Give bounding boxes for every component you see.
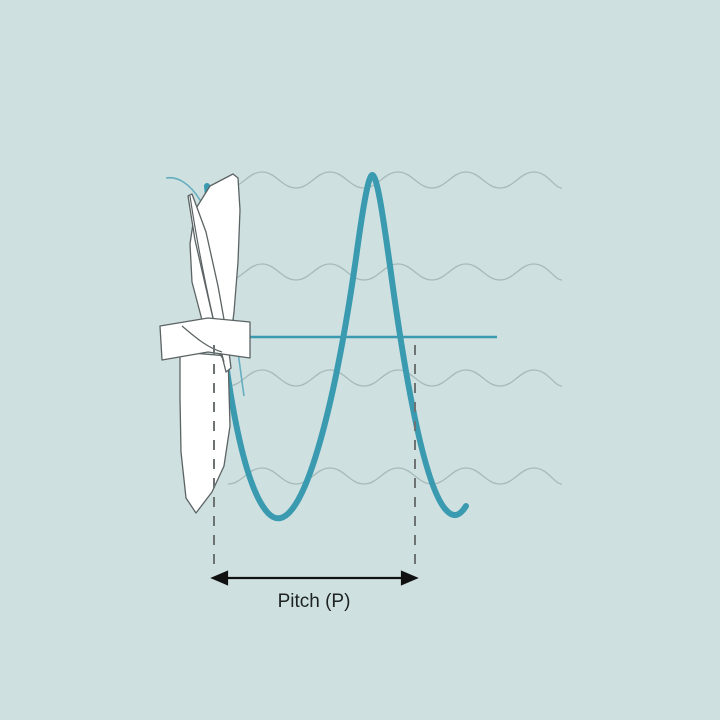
pitch-label: Pitch (P): [278, 591, 351, 612]
background-wave-row-2: [228, 264, 562, 280]
pitch-arrow-head-left: [213, 572, 227, 584]
propeller-lower-blade: [180, 352, 230, 513]
background-wave-group: [228, 172, 562, 484]
diagram-canvas: Pitch (P): [0, 0, 720, 720]
background-wave-row-4: [228, 468, 562, 484]
background-wave-row-3: [228, 370, 562, 386]
background-wave-row-1: [228, 172, 562, 188]
pitch-arrow-head-right: [402, 572, 416, 584]
pitch-dimension-arrow: [213, 572, 416, 584]
propeller-pitch-diagram: Pitch (P): [0, 0, 720, 720]
